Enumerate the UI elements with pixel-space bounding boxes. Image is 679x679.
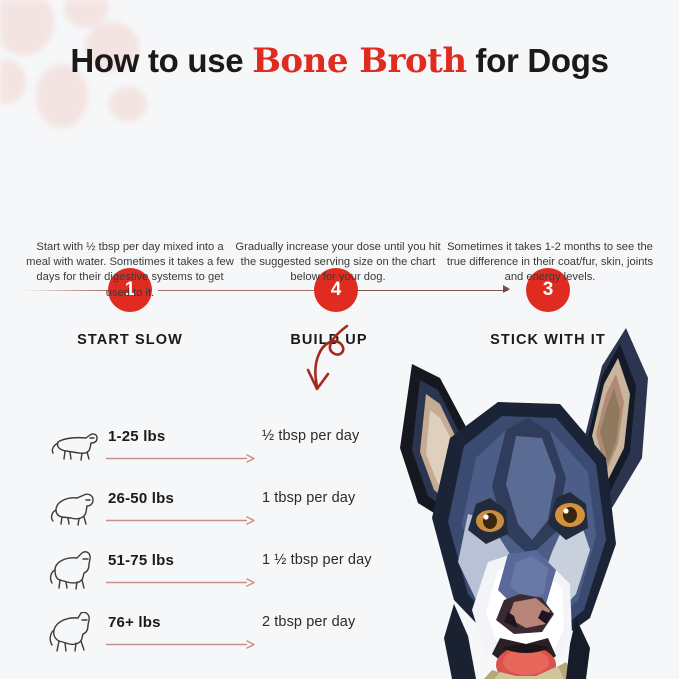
dosage-row: 76+ lbs 2 tbsp per day: [0, 604, 420, 666]
page-title: How to use Bone Broth for Dogs: [0, 41, 679, 81]
step-heading-1: START SLOW: [15, 332, 245, 348]
small-dog-icon: [46, 426, 104, 468]
title-highlight: Bone Broth: [252, 41, 466, 81]
dosage-arrow-icon: [106, 640, 256, 649]
medium-dog-icon: [46, 488, 104, 530]
title-prefix: How to use: [70, 42, 252, 79]
dosage-arrow-icon: [106, 516, 256, 525]
dosage-arrow-icon: [106, 578, 256, 587]
step-description-3: Sometimes it takes 1-2 months to see the…: [444, 240, 656, 286]
dosage-arrow-icon: [106, 454, 256, 463]
timeline-arrowhead-icon: [503, 285, 510, 293]
dosage-chart: 1-25 lbs ½ tbsp per day 26-50 lbs 1 tbsp…: [0, 418, 420, 668]
dosage-weight-label: 26-50 lbs: [108, 490, 258, 507]
step-description-2: Gradually increase your dose until you h…: [232, 240, 444, 286]
step-description-1: Start with ½ tbsp per day mixed into a m…: [24, 240, 236, 301]
dog-head-portrait: [380, 318, 679, 679]
dosage-weight-label: 76+ lbs: [108, 614, 258, 631]
dosage-row: 1-25 lbs ½ tbsp per day: [0, 418, 420, 480]
extra-large-dog-icon: [46, 612, 104, 654]
title-suffix: for Dogs: [467, 42, 609, 79]
dosage-row: 26-50 lbs 1 tbsp per day: [0, 480, 420, 542]
large-dog-icon: [46, 550, 104, 592]
curved-down-arrow-icon: [295, 320, 375, 398]
dosage-weight-label: 51-75 lbs: [108, 552, 258, 569]
dosage-weight-label: 1-25 lbs: [108, 428, 258, 445]
dosage-row: 51-75 lbs 1 ½ tbsp per day: [0, 542, 420, 604]
timeline-line-segment: [358, 290, 508, 291]
